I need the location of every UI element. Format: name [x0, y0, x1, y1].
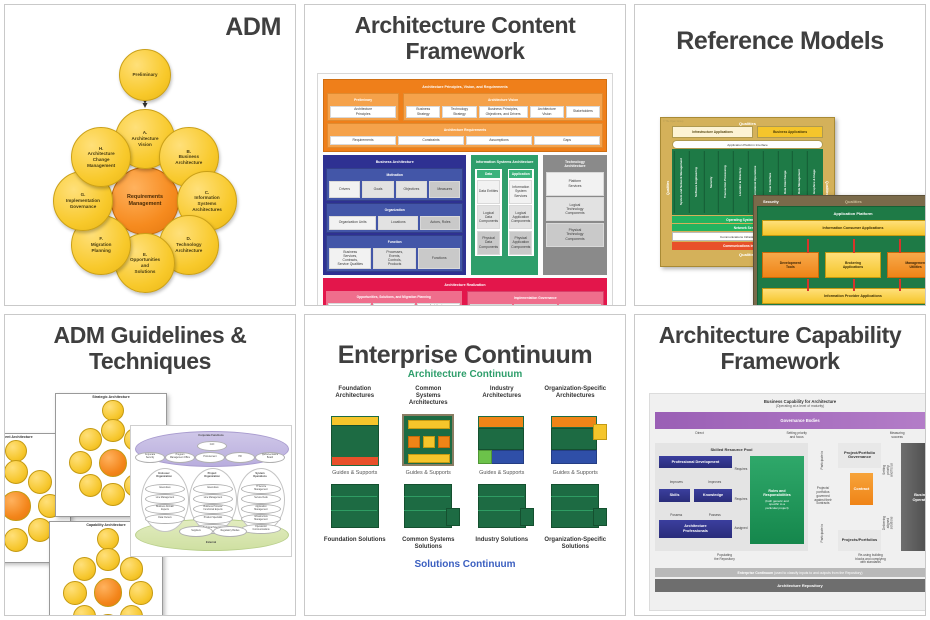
iii-rm-connector: [899, 279, 901, 291]
pill-stakeholder: Application Management: [241, 504, 281, 514]
continuum-column: Common Systems Architectures: [393, 386, 465, 408]
acf-cell: Architecture Vision: [530, 106, 564, 118]
panel-title-acf: Architecture Content Framework: [305, 5, 625, 65]
edge-label-measuring-success: Measuring success: [890, 432, 905, 440]
trm-service: Software Engineering: [689, 151, 703, 213]
acf-cell: Data Entities: [477, 180, 500, 204]
node-business-operations: Business Operations: [901, 443, 926, 551]
pill-stakeholder: Operations/ Communications: [241, 524, 281, 534]
architecture-label: Industry Architectures: [466, 386, 538, 400]
node-skills: Skills: [659, 489, 690, 502]
solution-label: Common Systems Solutions: [393, 537, 465, 551]
pill-corporate: Program Management Office: [165, 452, 195, 463]
acf-cell: Work Packages: [373, 303, 416, 307]
iii-rm-connector: [899, 239, 901, 253]
acf-group-header: Implementation Governance: [470, 294, 602, 302]
pill-stakeholder: Business Process/ Functional Experts: [193, 504, 233, 514]
adm-node[interactable]: H. Architecture Change Management: [71, 127, 131, 187]
arch-blocks: [319, 414, 391, 466]
edge-label-populating: Populating the Repository: [714, 554, 735, 566]
panel-enterprise-continuum[interactable]: Enterprise Continuum Architecture Contin…: [304, 314, 626, 616]
trm-qualities-left: Qualities: [664, 126, 672, 250]
pill-stakeholder: Line Management: [193, 494, 233, 504]
acf-cell: Specifications: [559, 304, 602, 307]
acf-cell: Goals: [362, 181, 393, 198]
mini-adm-node: [73, 605, 97, 616]
arch-blocks: [540, 414, 612, 466]
acf-cell: Business Services, Contracts, Service Qu…: [329, 248, 371, 269]
architecture-repository-bar: Architecture Repository: [655, 579, 926, 592]
continuum-column: Organization-Specific Architectures: [540, 386, 612, 400]
pill-stakeholder: Infrastructure Management: [241, 514, 281, 524]
adm-guidelines-diagram: Segment Architecture Strategic Architect…: [5, 375, 295, 617]
pill-stakeholder: Service Desk: [241, 494, 281, 504]
pill-stakeholder: Line Management: [145, 494, 185, 504]
pill-corporate: Procurement: [195, 452, 225, 463]
continuum-column: Foundation Architectures: [319, 386, 391, 400]
panel-adm[interactable]: ADM Requirements ManagementPreliminaryA.…: [4, 4, 296, 306]
arch-blocks: [466, 414, 538, 466]
group-header: System Operations: [237, 472, 283, 478]
node-professional-development: Professional Development: [659, 456, 732, 469]
edge-label-improves: Improves: [659, 481, 693, 485]
edge-label-possess: Possess: [659, 514, 693, 518]
acf-is-col-header: Application: [509, 170, 532, 178]
iii-rm-consumer: Information Consumer Applications: [762, 220, 926, 236]
acf-cell: Business Strategy: [406, 106, 440, 118]
panel-adm-guidelines[interactable]: ADM Guidelines & Techniques Segment Arch…: [4, 314, 296, 616]
node-architecture-professionals: Architecture Professionals: [659, 520, 732, 537]
acf-cell: Constraints: [398, 136, 464, 145]
group-header: Project Organization: [189, 472, 235, 478]
cf-subtitle: (Operating at a level of maturity): [655, 404, 926, 408]
acf-realization-header: Architecture Realization: [326, 281, 604, 289]
trm-service: System and Network Management: [674, 151, 688, 213]
edge-label-participate-in: Participate in: [821, 451, 825, 469]
iii-rm-connector: [853, 279, 855, 291]
acf-cell: Processes, Events, Controls, Products: [373, 248, 415, 269]
panel-architecture-capability-framework[interactable]: Architecture Capability Framework © The …: [634, 314, 926, 616]
solutions-continuum-label: Solutions Continuum: [319, 559, 611, 570]
acf-business-header: Business Architecture: [326, 158, 463, 166]
capability-framework-diagram: © The Open Group Business Capability for…: [649, 393, 926, 611]
architecture-label: Common Systems Architectures: [393, 386, 465, 408]
acf-cell: Locations: [378, 216, 418, 230]
iii-rm-diagram: Security Qualities Mobility Application …: [753, 195, 926, 306]
pill-stakeholder: Executives: [145, 484, 185, 494]
panel-title-reference-models: Reference Models: [635, 5, 925, 55]
solution-label: Industry Solutions: [466, 537, 538, 551]
acf-cell: Organization Units: [329, 216, 376, 230]
trm-api-bar: Application Platform Interface: [672, 140, 823, 149]
acf-cell: Measures: [429, 181, 460, 198]
iii-rm-middle-box: Brokering Applications: [825, 252, 882, 278]
panel-title-adm: ADM: [5, 5, 295, 41]
acf-cell: Standards: [470, 304, 513, 307]
acf-tech-header: Technology Architecture: [546, 158, 604, 170]
acf-vision-header: Architecture Vision: [406, 96, 600, 104]
mini-caption: Strategic Architecture: [56, 394, 166, 399]
panel-title-enterprise-continuum: Enterprise Continuum: [305, 315, 625, 369]
mini-adm-node: [28, 470, 52, 494]
acf-is-col-header: Data: [477, 170, 500, 178]
guides-supports-label: Guides & Supports: [393, 470, 465, 476]
mini-adm-node: [120, 605, 144, 616]
pill-stakeholder: Data Owners: [145, 514, 185, 524]
iii-rm-middle-box: Development Tools: [762, 252, 819, 278]
pill-stakeholder: Product Specialist: [193, 514, 233, 524]
pill-corporate: HR: [225, 452, 255, 463]
pill-stakeholder: Business Domain Experts: [145, 504, 185, 514]
framework-panel-grid: ADM Requirements ManagementPreliminaryA.…: [0, 0, 930, 620]
node-project-portfolio-governance: Project/Portfolio Governance: [838, 443, 881, 469]
pill-corporate: Corporate Security: [135, 452, 165, 463]
mini-adm-node: [4, 528, 28, 552]
edge-label-delivering: Delivering aligned solutions: [883, 516, 899, 530]
trm-app-box: Infrastructure Applications: [672, 126, 753, 138]
acf-cell: Objectives: [396, 181, 427, 198]
mini-adm-node: [73, 557, 97, 581]
acf-group-header: Function: [329, 238, 460, 246]
acf-diagram: Architecture Principles, Vision, and Req…: [317, 73, 613, 307]
guides-supports-label: Guides & Supports: [466, 470, 538, 476]
iii-rm-provider: Information Provider Applications: [762, 288, 926, 304]
acf-cell: Physical Application Components: [509, 231, 532, 255]
edge-label-direct: Direct: [695, 432, 703, 440]
edge-label-assigned: Assigned: [734, 527, 748, 531]
edge-label-setting-priority: Setting priority and focus: [787, 432, 807, 440]
enterprise-continuum-diagram: Architecture Continuum Foundation Archit…: [319, 369, 611, 607]
mini-adm-node: [101, 419, 124, 442]
mini-adm-node: [79, 428, 102, 451]
trm-service: Transaction Processing: [718, 151, 732, 213]
sol-blocks: [393, 480, 465, 532]
acf-preliminary-header: Preliminary: [330, 96, 396, 104]
acf-cell: Logical Technology Components: [546, 197, 604, 221]
panel-architecture-content-framework[interactable]: Architecture Content Framework Architect…: [304, 4, 626, 306]
acf-cell: Functions: [418, 248, 460, 269]
adm-node[interactable]: Preliminary: [119, 49, 171, 101]
panel-title-capability-framework: Architecture Capability Framework: [635, 315, 925, 375]
acf-cell: Drivers: [329, 181, 360, 198]
mini-adm-node: [63, 581, 87, 605]
trm-app-box: Business Applications: [757, 126, 823, 138]
pill-stakeholder: IT Service Management: [241, 484, 281, 494]
iii-rm-top-label: Qualities: [845, 199, 862, 204]
guides-supports-label: Guides & Supports: [319, 470, 391, 476]
pill-external: Suppliers: [179, 526, 213, 537]
edge-label-reusing: Re-using building blocks and complying w…: [855, 554, 885, 566]
acf-cell: Stakeholders: [566, 106, 600, 118]
acf-cell: Assumptions: [466, 136, 532, 145]
edge-label-participate-in: Participate in: [821, 524, 825, 542]
acf-cell: Architecture Contracts: [417, 303, 460, 307]
pill-external: Regulatory Bodies: [213, 526, 247, 537]
pill-cxo: CxO: [197, 441, 227, 451]
mini-adm-node: [96, 548, 120, 572]
node-knowledge: Knowledge: [694, 489, 732, 502]
acf-cell: Logical Application Components: [509, 205, 532, 229]
edge-label-possess: Possess: [697, 514, 731, 518]
reference-models-diagram: © The Open Group Qualities Qualities Inf…: [635, 55, 925, 295]
edge-label-improves: Improves: [697, 481, 731, 485]
mini-adm-node: [101, 483, 124, 506]
acf-cell: Logical Data Components: [477, 205, 500, 229]
edge-label-requires: Requires: [734, 468, 748, 472]
mini-adm-node: [4, 460, 28, 484]
node-roles-responsibilities: Roles and Responsibilities: [763, 489, 791, 498]
corporate-functions-label: Corporate Functions: [131, 434, 291, 437]
architecture-label: Organization-Specific Architectures: [540, 386, 612, 400]
architecture-label: Foundation Architectures: [319, 386, 391, 400]
trm-service: Location & Directory: [733, 151, 747, 213]
group-header: End-user Organization: [141, 472, 187, 478]
guides-supports-label: Guides & Supports: [540, 470, 612, 476]
acf-cell: Capabilities: [328, 303, 371, 307]
sol-blocks: [540, 480, 612, 532]
solution-label: Organization-Specific Solutions: [540, 537, 612, 551]
mini-adm-node: [120, 557, 144, 581]
acf-cell: Actors, Roles: [420, 216, 460, 230]
mini-adm-core: [99, 449, 127, 477]
acf-is-header: Information Systems Architecture: [474, 158, 534, 166]
enterprise-continuum-bar: Enterprise Continuum (used to classify i…: [655, 568, 926, 577]
trm-service: Security: [704, 151, 718, 213]
acf-top-header: Architecture Principles, Vision, and Req…: [327, 83, 603, 91]
acf-cell: Physical Data Components: [477, 231, 500, 255]
mini-adm-node: [129, 581, 153, 605]
iii-rm-connector: [807, 239, 809, 253]
adm-diagram: Requirements ManagementPreliminaryA. Arc…: [5, 53, 295, 305]
acf-cell: Guidelines: [514, 304, 557, 307]
acf-cell: Information System Services: [509, 180, 532, 204]
mini-adm-core: [94, 578, 123, 607]
iii-rm-copyright: © The Open Group: [925, 302, 926, 304]
mini-adm-node: [5, 440, 27, 462]
pill-corporate: Qa/Governance Board: [255, 452, 285, 463]
sol-blocks: [319, 480, 391, 532]
acf-cell: Physical Technology Components: [546, 223, 604, 247]
sol-blocks: [466, 480, 538, 532]
skilled-resource-pool-label: Skilled Resource Pool: [659, 447, 804, 452]
architecture-continuum-label: Architecture Continuum: [319, 369, 611, 380]
pill-stakeholder: Executives: [193, 484, 233, 494]
governance-bodies-bar: Governance Bodies: [655, 412, 926, 429]
node-contract: Contract: [850, 473, 873, 505]
continuum-column: Industry Architectures: [466, 386, 538, 400]
acf-cell: Technology Strategy: [442, 106, 476, 118]
iii-rm-middle-box: Management Utilities: [887, 252, 926, 278]
arch-blocks: [393, 414, 465, 466]
acf-group-header: Motivation: [329, 171, 460, 179]
trm-copyright: © The Open Group: [663, 120, 683, 123]
mini-adm-node: [97, 528, 119, 550]
mini-adm-node: [96, 614, 120, 616]
mini-adm-node: [102, 400, 123, 421]
stakeholder-map: Corporate Functions CxO External Corpora…: [130, 425, 292, 557]
acf-cell: Gaps: [534, 136, 600, 145]
acf-cell: Business Principles, Objectives, and Dri…: [479, 106, 528, 118]
iii-rm-platform-label: Application Platform: [762, 211, 926, 216]
panel-reference-models[interactable]: Reference Models © The Open Group Qualit…: [634, 4, 926, 306]
acf-cell: Platform Services: [546, 172, 604, 196]
external-label: External: [131, 541, 291, 544]
node-projects-portfolios: Projects/Portfolios: [838, 530, 881, 551]
mini-adm-node: [79, 474, 102, 497]
solution-label: Foundation Solutions: [319, 537, 391, 551]
edge-label-setting-priority-2: Setting priority and focus: [883, 463, 899, 477]
edge-label-governed: Projects/ portfolios governed against th…: [814, 487, 831, 506]
edge-label-requires: Requires: [734, 498, 748, 502]
acf-cell: Requirements: [330, 136, 396, 145]
mini-adm-node: [69, 451, 92, 474]
iii-rm-connector: [853, 239, 855, 253]
iii-rm-connector: [807, 279, 809, 291]
mini-adm-core: [4, 491, 31, 520]
iii-rm-top-label: Security: [763, 199, 779, 204]
panel-title-adm-guidelines: ADM Guidelines & Techniques: [5, 315, 295, 375]
acf-requirements-header: Architecture Requirements: [330, 126, 600, 134]
acf-group-header: Opportunities, Solutions, and Migration …: [328, 293, 460, 301]
acf-cell: Architecture Principles: [330, 106, 396, 118]
acf-group-header: Organization: [329, 206, 460, 214]
node-roles-sub: (both generic and specific to a particul…: [765, 500, 788, 511]
